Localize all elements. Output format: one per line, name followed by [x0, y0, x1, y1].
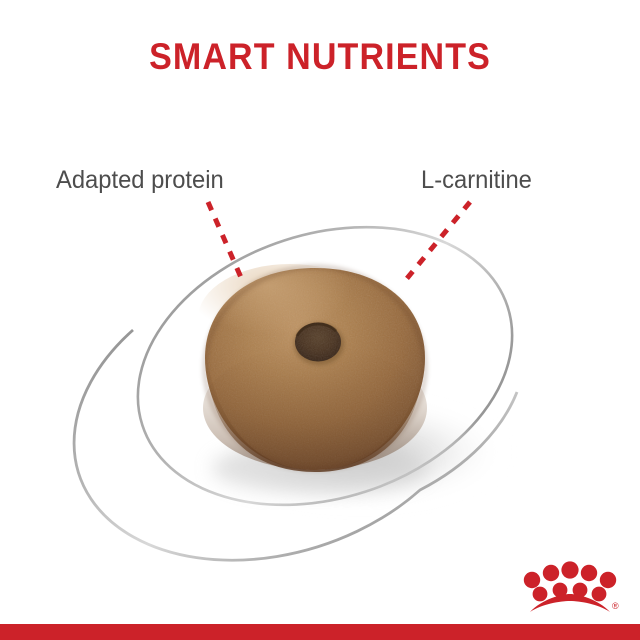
royal-canin-logo: ®: [516, 552, 620, 614]
callout-label-adapted-protein: Adapted protein: [56, 166, 224, 195]
leader-line-adapted-protein: [208, 202, 243, 282]
crown-icon: [524, 561, 616, 612]
leader-line-l-carnitine: [404, 202, 470, 282]
product-infographic: SMART NUTRIENTS: [0, 0, 640, 640]
kibble-illustration: [0, 0, 640, 640]
callout-label-l-carnitine: L-carnitine: [421, 166, 532, 195]
footer-accent-bar: [0, 624, 640, 640]
kibble: [198, 264, 427, 472]
registered-trademark-icon: ®: [612, 601, 619, 611]
